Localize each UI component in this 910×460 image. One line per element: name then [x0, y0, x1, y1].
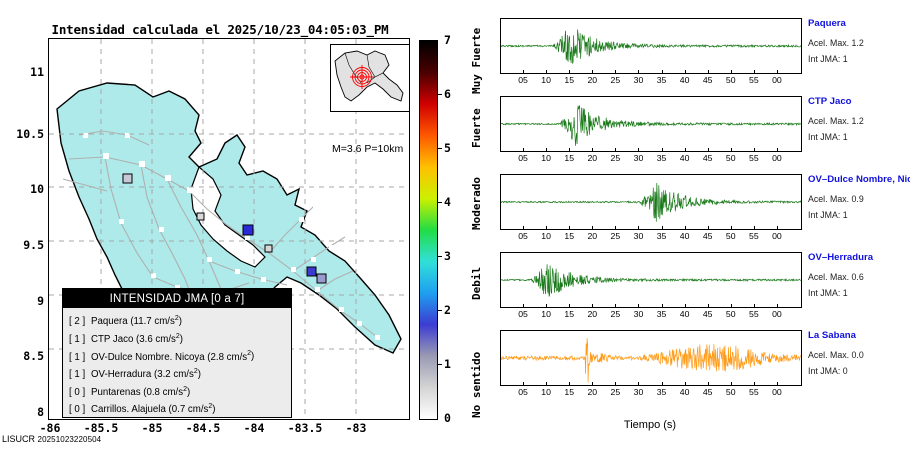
seismogram-trace-box[interactable]: [500, 18, 802, 74]
axis-tick-label: 00: [772, 75, 782, 85]
axis-tick: [638, 70, 639, 74]
axis-tick-label: 20: [587, 75, 597, 85]
axis-tick: [685, 70, 686, 74]
station-intensity-label: Int JMA: 1: [808, 288, 848, 298]
axis-tick: [592, 70, 593, 74]
axis-tick: [731, 148, 732, 152]
axis-tick-label: 35: [657, 387, 667, 397]
axis-tick: [523, 304, 524, 308]
axis-tick-label: 50: [726, 75, 736, 85]
axis-tick-label: 50: [726, 387, 736, 397]
station-name-label: Paquera: [808, 18, 846, 29]
axis-tick: [731, 382, 732, 386]
axis-tick: [546, 226, 547, 230]
colorbar-tick-label: 3: [444, 249, 451, 263]
station-intensity-label: Int JMA: 1: [808, 132, 848, 142]
station-marker: [123, 174, 132, 183]
legend-tail: ): [180, 334, 183, 345]
station-intensity-label: Int JMA: 1: [808, 54, 848, 64]
legend-tail: ): [198, 369, 201, 380]
legend-name: CTP Jaco (3.6 cm/s: [91, 333, 176, 347]
intensity-colorbar: [419, 40, 438, 420]
seismogram-trace-box[interactable]: [500, 252, 802, 308]
axis-tick-label: 55: [749, 309, 759, 319]
axis-tick: [638, 382, 639, 386]
legend-tail: ): [187, 387, 190, 398]
axis-tick: [592, 304, 593, 308]
seismogram-trace-box[interactable]: [500, 330, 802, 386]
axis-tick-label: 55: [749, 75, 759, 85]
seismogram-row: 051015202530354045505500OV–HerraduraAcel…: [500, 252, 800, 330]
axis-tick: [708, 148, 709, 152]
inset-graphic: [331, 45, 409, 111]
axis-tick-label: 45: [703, 153, 713, 163]
seismogram-row: 051015202530354045505500OV–Dulce Nombre,…: [500, 174, 800, 252]
seismogram-row: 051015202530354045505500PaqueraAcel. Max…: [500, 18, 800, 96]
waveform: [501, 97, 801, 151]
colorbar-tick: [437, 94, 442, 95]
station-accel-label: Acel. Max. 0.9: [808, 194, 864, 204]
axis-tick-label: 40: [680, 231, 690, 241]
axis-tick: [546, 382, 547, 386]
colorbar-tick-label: 6: [444, 87, 451, 101]
axis-tick-label: 15: [564, 153, 574, 163]
axis-tick: [523, 226, 524, 230]
axis-tick: [546, 304, 547, 308]
axis-tick-label: 45: [703, 75, 713, 85]
x-axis-title: Tiempo (s): [500, 419, 800, 431]
list-item: [ 2 ]Paquera (11.7 cm/s2): [69, 312, 291, 330]
seismogram-x-axis: 051015202530354045505500: [500, 74, 800, 90]
colorbar-category-label: Moderado: [470, 148, 483, 230]
waveform: [501, 331, 801, 385]
seismogram-row: 051015202530354045505500La SabanaAcel. M…: [500, 330, 800, 408]
intensity-legend: INTENSIDAD JMA [0 a 7] [ 2 ]Paquera (11.…: [62, 288, 292, 418]
list-item: [ 0 ]Puntarenas (0.8 cm/s2): [69, 383, 291, 401]
axis-tick: [662, 382, 663, 386]
colorbar-tick: [437, 148, 442, 149]
lat-tick: 11: [0, 65, 44, 79]
legend-tail: ): [179, 316, 182, 327]
axis-tick-label: 50: [726, 309, 736, 319]
axis-tick-label: 00: [772, 387, 782, 397]
colorbar-category-label: Muy Fuerte: [470, 40, 483, 94]
axis-tick: [615, 226, 616, 230]
legend-index: [ 0 ]: [69, 403, 91, 417]
list-item: [ 1 ]OV-Herradura (3.2 cm/s2): [69, 365, 291, 383]
axis-tick: [685, 304, 686, 308]
axis-tick: [569, 382, 570, 386]
colorbar-category-label: No sentido: [470, 300, 483, 418]
lat-tick: 8.5: [0, 349, 44, 363]
legend-index: [ 1 ]: [69, 368, 91, 382]
list-item: [ 1 ]OV-Dulce Nombre. Nicoya (2.8 cm/s2): [69, 347, 291, 365]
station-marker: [317, 274, 326, 283]
station-name-label: La Sabana: [808, 330, 856, 341]
lat-tick: 9.5: [0, 238, 44, 252]
axis-tick: [592, 226, 593, 230]
axis-tick-label: 10: [541, 231, 551, 241]
axis-tick: [685, 382, 686, 386]
axis-tick: [662, 226, 663, 230]
station-marker: [197, 213, 204, 220]
station-marker: [265, 245, 272, 252]
station-name-label: CTP Jaco: [808, 96, 852, 107]
lon-tick: -83: [326, 421, 386, 435]
axis-tick-label: 35: [657, 153, 667, 163]
axis-tick: [731, 226, 732, 230]
axis-tick-label: 25: [611, 75, 621, 85]
axis-tick-label: 20: [587, 231, 597, 241]
lat-tick: 10.5: [0, 127, 44, 141]
colorbar-tick: [437, 364, 442, 365]
axis-tick-label: 35: [657, 75, 667, 85]
axis-tick-label: 30: [634, 387, 644, 397]
axis-tick-label: 25: [611, 309, 621, 319]
legend-index: [ 2 ]: [69, 315, 91, 329]
axis-tick: [615, 70, 616, 74]
axis-tick: [592, 382, 593, 386]
seismogram-trace-box[interactable]: [500, 96, 802, 152]
waveform: [501, 19, 801, 73]
colorbar-tick: [437, 202, 442, 203]
legend-name: Puntarenas (0.8 cm/s: [91, 386, 183, 400]
waveform: [501, 175, 801, 229]
axis-tick-label: 40: [680, 75, 690, 85]
axis-tick-label: 30: [634, 75, 644, 85]
axis-tick: [754, 148, 755, 152]
seismogram-x-axis: 051015202530354045505500: [500, 230, 800, 246]
axis-tick-label: 10: [541, 387, 551, 397]
axis-tick-label: 20: [587, 153, 597, 163]
axis-tick: [777, 226, 778, 230]
list-item: [ 0 ]Carrillos. Alajuela (0.7 cm/s2): [69, 400, 291, 418]
axis-tick: [662, 304, 663, 308]
colorbar-tick-label: 5: [444, 141, 451, 155]
station-name-label: OV–Dulce Nombre, Nico: [808, 174, 910, 185]
axis-tick-label: 05: [518, 75, 528, 85]
colorbar-tick-label: 0: [444, 411, 451, 425]
legend-station-list: [ 2 ]Paquera (11.7 cm/s2) [ 1 ]CTP Jaco …: [63, 308, 291, 418]
colorbar-tick: [437, 256, 442, 257]
axis-tick: [638, 304, 639, 308]
axis-tick-label: 10: [541, 309, 551, 319]
legend-index: [ 0 ]: [69, 386, 91, 400]
station-accel-label: Acel. Max. 0.6: [808, 272, 864, 282]
axis-tick: [615, 304, 616, 308]
legend-name: Paquera (11.7 cm/s: [91, 315, 175, 329]
axis-tick-label: 05: [518, 153, 528, 163]
axis-tick-label: 20: [587, 309, 597, 319]
legend-tail: ): [212, 404, 215, 415]
colorbar-tick-label: 1: [444, 357, 451, 371]
axis-tick-label: 25: [611, 231, 621, 241]
station-marker: [243, 225, 253, 235]
axis-tick: [708, 382, 709, 386]
legend-name: Carrillos. Alajuela (0.7 cm/s: [91, 403, 208, 417]
axis-tick-label: 40: [680, 153, 690, 163]
locator-inset-map[interactable]: [330, 44, 410, 112]
axis-tick-label: 05: [518, 231, 528, 241]
axis-tick: [777, 70, 778, 74]
axis-tick-label: 45: [703, 387, 713, 397]
station-marker: [307, 267, 316, 276]
axis-tick-label: 10: [541, 75, 551, 85]
axis-tick-label: 55: [749, 387, 759, 397]
legend-header: INTENSIDAD JMA [0 a 7]: [63, 289, 291, 308]
lat-tick: 8: [0, 405, 44, 419]
axis-tick-label: 45: [703, 309, 713, 319]
axis-tick-label: 50: [726, 153, 736, 163]
axis-tick: [731, 304, 732, 308]
legend-index: [ 1 ]: [69, 351, 91, 365]
axis-tick-label: 00: [772, 231, 782, 241]
axis-tick: [777, 304, 778, 308]
axis-tick: [569, 304, 570, 308]
axis-tick-label: 55: [749, 153, 759, 163]
legend-index: [ 1 ]: [69, 333, 91, 347]
station-name-label: OV–Herradura: [808, 252, 873, 263]
axis-tick-label: 10: [541, 153, 551, 163]
axis-tick-label: 30: [634, 309, 644, 319]
axis-tick-label: 30: [634, 231, 644, 241]
lat-tick: 10: [0, 182, 44, 196]
colorbar-tick-label: 4: [444, 195, 451, 209]
lat-tick: 9: [0, 294, 44, 308]
axis-tick: [592, 148, 593, 152]
axis-tick-label: 50: [726, 231, 736, 241]
colorbar-tick: [437, 310, 442, 311]
footer-credit: LISUCR 20251023220504: [2, 434, 101, 444]
axis-tick-label: 05: [518, 309, 528, 319]
seismogram-panel: 051015202530354045505500PaqueraAcel. Max…: [500, 18, 800, 408]
axis-tick-label: 40: [680, 309, 690, 319]
station-intensity-label: Int JMA: 0: [808, 366, 848, 376]
station-accel-label: Acel. Max. 1.2: [808, 38, 864, 48]
axis-tick-label: 00: [772, 309, 782, 319]
axis-tick: [523, 382, 524, 386]
axis-tick: [754, 70, 755, 74]
station-intensity-label: Int JMA: 1: [808, 210, 848, 220]
colorbar-category-label: Debil: [470, 230, 483, 300]
axis-tick: [754, 382, 755, 386]
legend-name: OV-Herradura (3.2 cm/s: [91, 368, 194, 382]
seismogram-x-axis: 051015202530354045505500: [500, 386, 800, 402]
colorbar-tick-label: 7: [444, 33, 451, 47]
axis-tick: [569, 148, 570, 152]
axis-tick-label: 15: [564, 309, 574, 319]
axis-tick-label: 05: [518, 387, 528, 397]
axis-tick-label: 15: [564, 231, 574, 241]
axis-tick: [708, 70, 709, 74]
seismogram-trace-box[interactable]: [500, 174, 802, 230]
station-accel-label: Acel. Max. 1.2: [808, 116, 864, 126]
axis-tick-label: 00: [772, 153, 782, 163]
axis-tick-label: 55: [749, 231, 759, 241]
axis-tick: [569, 70, 570, 74]
axis-tick-label: 15: [564, 75, 574, 85]
axis-tick: [638, 226, 639, 230]
axis-tick: [615, 148, 616, 152]
magnitude-depth-label: M=3.6 P=10km: [332, 143, 403, 155]
axis-tick: [662, 148, 663, 152]
footer-code: 20251023220504: [38, 435, 102, 444]
axis-tick-label: 35: [657, 231, 667, 241]
colorbar-tick-label: 2: [444, 303, 451, 317]
axis-tick-label: 25: [611, 387, 621, 397]
axis-tick: [662, 70, 663, 74]
axis-tick: [777, 382, 778, 386]
footer-agency: LISUCR: [2, 434, 35, 444]
axis-tick: [685, 148, 686, 152]
axis-tick: [546, 70, 547, 74]
seismogram-x-axis: 051015202530354045505500: [500, 308, 800, 324]
axis-tick: [708, 226, 709, 230]
axis-tick-label: 40: [680, 387, 690, 397]
axis-tick-label: 35: [657, 309, 667, 319]
waveform: [501, 253, 801, 307]
axis-tick: [685, 226, 686, 230]
axis-tick: [754, 226, 755, 230]
list-item: [ 1 ]CTP Jaco (3.6 cm/s2): [69, 330, 291, 348]
axis-tick-label: 30: [634, 153, 644, 163]
page-title: Intensidad calculada el 2025/10/23_04:05…: [0, 22, 440, 37]
axis-tick: [731, 70, 732, 74]
axis-tick: [777, 148, 778, 152]
colorbar-category-label: Fuerte: [470, 94, 483, 148]
legend-name: OV-Dulce Nombre. Nicoya (2.8 cm/s: [91, 351, 247, 365]
axis-tick: [638, 148, 639, 152]
axis-tick-label: 25: [611, 153, 621, 163]
axis-tick-label: 20: [587, 387, 597, 397]
axis-tick-label: 15: [564, 387, 574, 397]
axis-tick-label: 45: [703, 231, 713, 241]
axis-tick: [523, 148, 524, 152]
axis-tick: [569, 226, 570, 230]
station-accel-label: Acel. Max. 0.0: [808, 350, 864, 360]
seismogram-x-axis: 051015202530354045505500: [500, 152, 800, 168]
axis-tick: [546, 148, 547, 152]
axis-tick: [615, 382, 616, 386]
seismogram-row: 051015202530354045505500CTP JacoAcel. Ma…: [500, 96, 800, 174]
axis-tick: [708, 304, 709, 308]
legend-tail: ): [251, 352, 254, 363]
axis-tick: [523, 70, 524, 74]
axis-tick: [754, 304, 755, 308]
